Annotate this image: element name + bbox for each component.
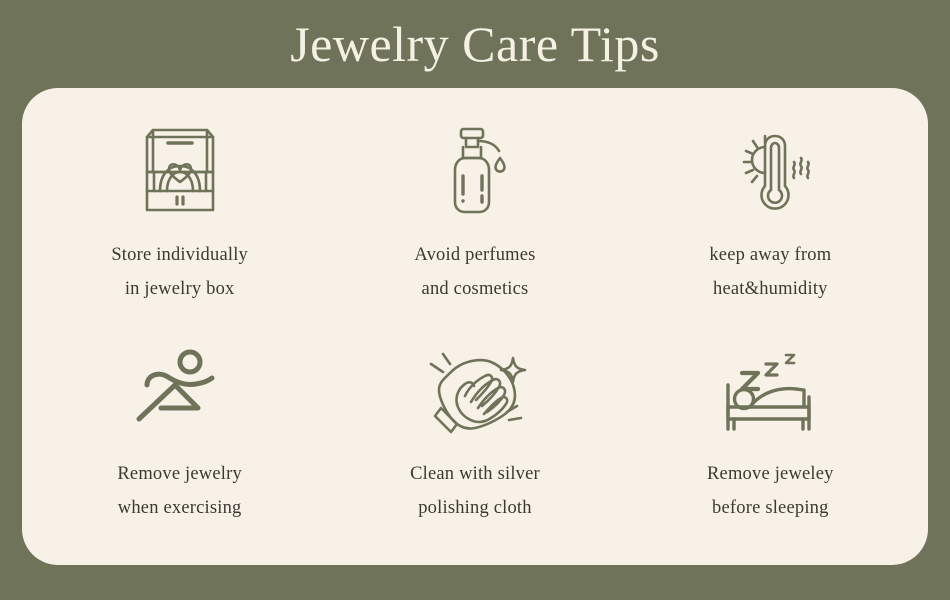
tips-card: Store individually in jewelry box xyxy=(22,88,928,565)
tip-item-remove-when-exercising: Remove jewelry when exercising xyxy=(32,325,327,544)
tip-label: Clean with silver polishing cloth xyxy=(410,457,540,525)
tip-item-clean-with-cloth: Clean with silver polishing cloth xyxy=(327,325,622,544)
polishing-cloth-hand-icon xyxy=(420,339,530,443)
tip-label-line-2: before sleeping xyxy=(707,491,834,525)
tip-label-line-2: and cosmetics xyxy=(414,272,535,306)
tip-label: Remove jeweley before sleeping xyxy=(707,457,834,525)
tip-label-line-2: heat&humidity xyxy=(709,272,831,306)
tip-item-keep-away-heat: keep away from heat&humidity xyxy=(623,106,918,325)
running-person-icon xyxy=(125,339,235,443)
tip-label-line-1: Remove jewelry xyxy=(117,457,242,491)
tip-label-line-2: polishing cloth xyxy=(410,491,540,525)
tip-label-line-1: Clean with silver xyxy=(410,457,540,491)
jewelry-care-tips-poster: Jewelry Care Tips xyxy=(0,0,950,600)
tip-label-line-1: Avoid perfumes xyxy=(414,238,535,272)
tip-label-line-1: keep away from xyxy=(709,238,831,272)
page-title: Jewelry Care Tips xyxy=(0,0,950,88)
tip-label: Remove jewelry when exercising xyxy=(117,457,242,525)
tip-item-remove-before-sleeping: Remove jeweley before sleeping xyxy=(623,325,918,544)
tip-item-store-individually: Store individually in jewelry box xyxy=(32,106,327,325)
tip-item-avoid-perfumes: Avoid perfumes and cosmetics xyxy=(327,106,622,325)
sleeping-person-bed-icon xyxy=(715,339,825,443)
tip-label-line-2: in jewelry box xyxy=(111,272,248,306)
thermometer-sun-icon xyxy=(715,120,825,224)
tip-label: keep away from heat&humidity xyxy=(709,238,831,306)
tip-label-line-1: Store individually xyxy=(111,238,248,272)
tip-label-line-2: when exercising xyxy=(117,491,242,525)
jewelry-box-icon xyxy=(125,120,235,224)
tip-label: Avoid perfumes and cosmetics xyxy=(414,238,535,306)
tip-label-line-1: Remove jeweley xyxy=(707,457,834,491)
tips-grid: Store individually in jewelry box xyxy=(22,88,928,565)
tip-label: Store individually in jewelry box xyxy=(111,238,248,306)
perfume-bottle-icon xyxy=(420,120,530,224)
